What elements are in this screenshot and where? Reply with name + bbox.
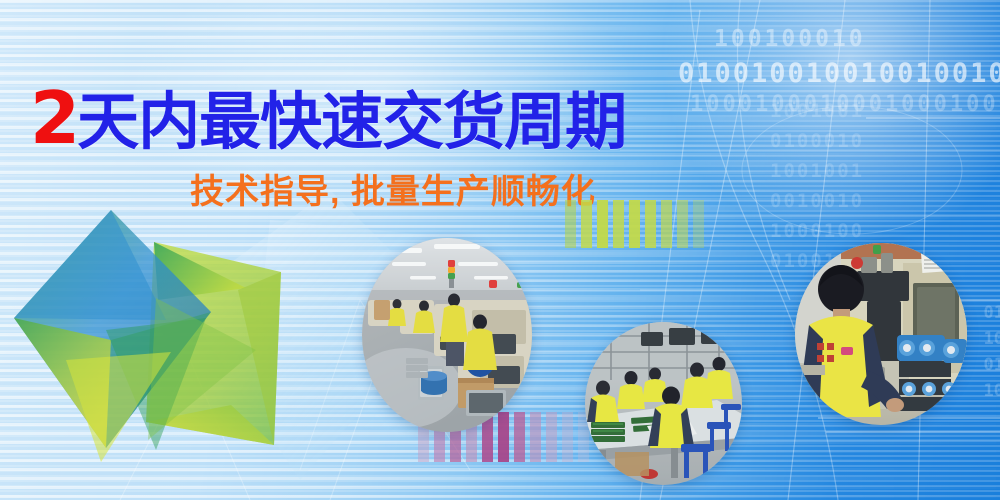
- headline-text: 天内最快速交货周期: [77, 88, 626, 157]
- page-title: 2天内最快速交货周期: [30, 84, 626, 157]
- corner-glow: [640, 0, 1000, 240]
- headline-number: 2: [30, 76, 77, 160]
- photo-machine-operator: [795, 243, 967, 425]
- promotional-banner: 100100010 01001001001001001000100010 100…: [0, 0, 1000, 500]
- binary-row-3: 1000100010001000100010001: [690, 92, 1000, 117]
- binary-row-2: 01001001001001001000100010: [678, 58, 1000, 89]
- binary-row-1: 100100010: [714, 26, 866, 52]
- photo-assembly-bench: [585, 322, 742, 485]
- page-subtitle: 技术指导, 批量生产顺畅化: [190, 172, 596, 212]
- binary-edge-block: 01 10 01 10: [984, 300, 1000, 404]
- photo-production-line: [362, 238, 532, 432]
- geometric-logo: [6, 200, 316, 500]
